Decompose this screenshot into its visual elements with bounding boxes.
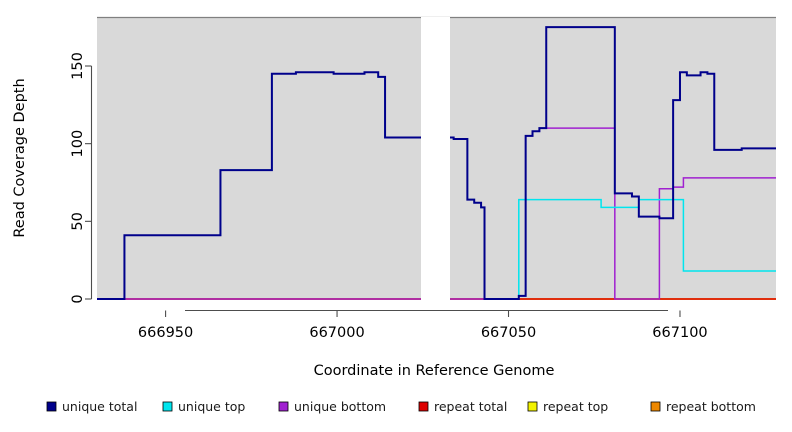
legend-item-repeat-bottom[interactable]: repeat bottom xyxy=(651,399,756,414)
legend-swatch-icon xyxy=(279,402,288,411)
legend-swatch-icon xyxy=(651,402,660,411)
x-axis: 666950667000667050667100 Coordinate in R… xyxy=(138,311,708,380)
y-tick-label: 0 xyxy=(70,294,86,303)
y-tick-label: 50 xyxy=(70,212,86,230)
legend-swatch-icon xyxy=(47,402,56,411)
y-axis-title: Read Coverage Depth xyxy=(12,78,28,237)
x-tick-label: 666950 xyxy=(138,325,193,341)
legend-label: repeat total xyxy=(434,399,507,414)
legend: unique totalunique topunique bottomrepea… xyxy=(47,399,756,414)
x-tick-group: 666950667000667050667100 xyxy=(138,311,708,342)
legend-label: unique total xyxy=(62,399,137,414)
legend-label: repeat bottom xyxy=(666,399,756,414)
x-tick-label: 667100 xyxy=(652,325,707,341)
x-tick-label: 667000 xyxy=(309,325,364,341)
legend-swatch-icon xyxy=(419,402,428,411)
y-tick-group: 050100150 xyxy=(70,52,92,303)
y-tick-label: 100 xyxy=(70,130,86,158)
x-axis-title: Coordinate in Reference Genome xyxy=(314,363,555,379)
legend-label: unique top xyxy=(178,399,245,414)
coverage-chart-canvas: 050100150 Read Coverage Depth 6669506670… xyxy=(0,0,792,432)
y-axis: 050100150 Read Coverage Depth xyxy=(12,52,92,303)
legend-label: unique bottom xyxy=(294,399,386,414)
legend-swatch-icon xyxy=(163,402,172,411)
legend-swatch-icon xyxy=(528,402,537,411)
legend-item-unique-top[interactable]: unique top xyxy=(163,399,245,414)
coverage-gap-mask xyxy=(421,17,450,300)
coverage-plot-figure: 050100150 Read Coverage Depth 6669506670… xyxy=(0,0,792,432)
x-tick-label: 667050 xyxy=(481,325,536,341)
y-tick-label: 150 xyxy=(70,52,86,80)
legend-item-repeat-top[interactable]: repeat top xyxy=(528,399,608,414)
legend-item-unique-bottom[interactable]: unique bottom xyxy=(279,399,386,414)
legend-item-repeat-total[interactable]: repeat total xyxy=(419,399,507,414)
legend-item-unique-total[interactable]: unique total xyxy=(47,399,137,414)
legend-label: repeat top xyxy=(543,399,608,414)
